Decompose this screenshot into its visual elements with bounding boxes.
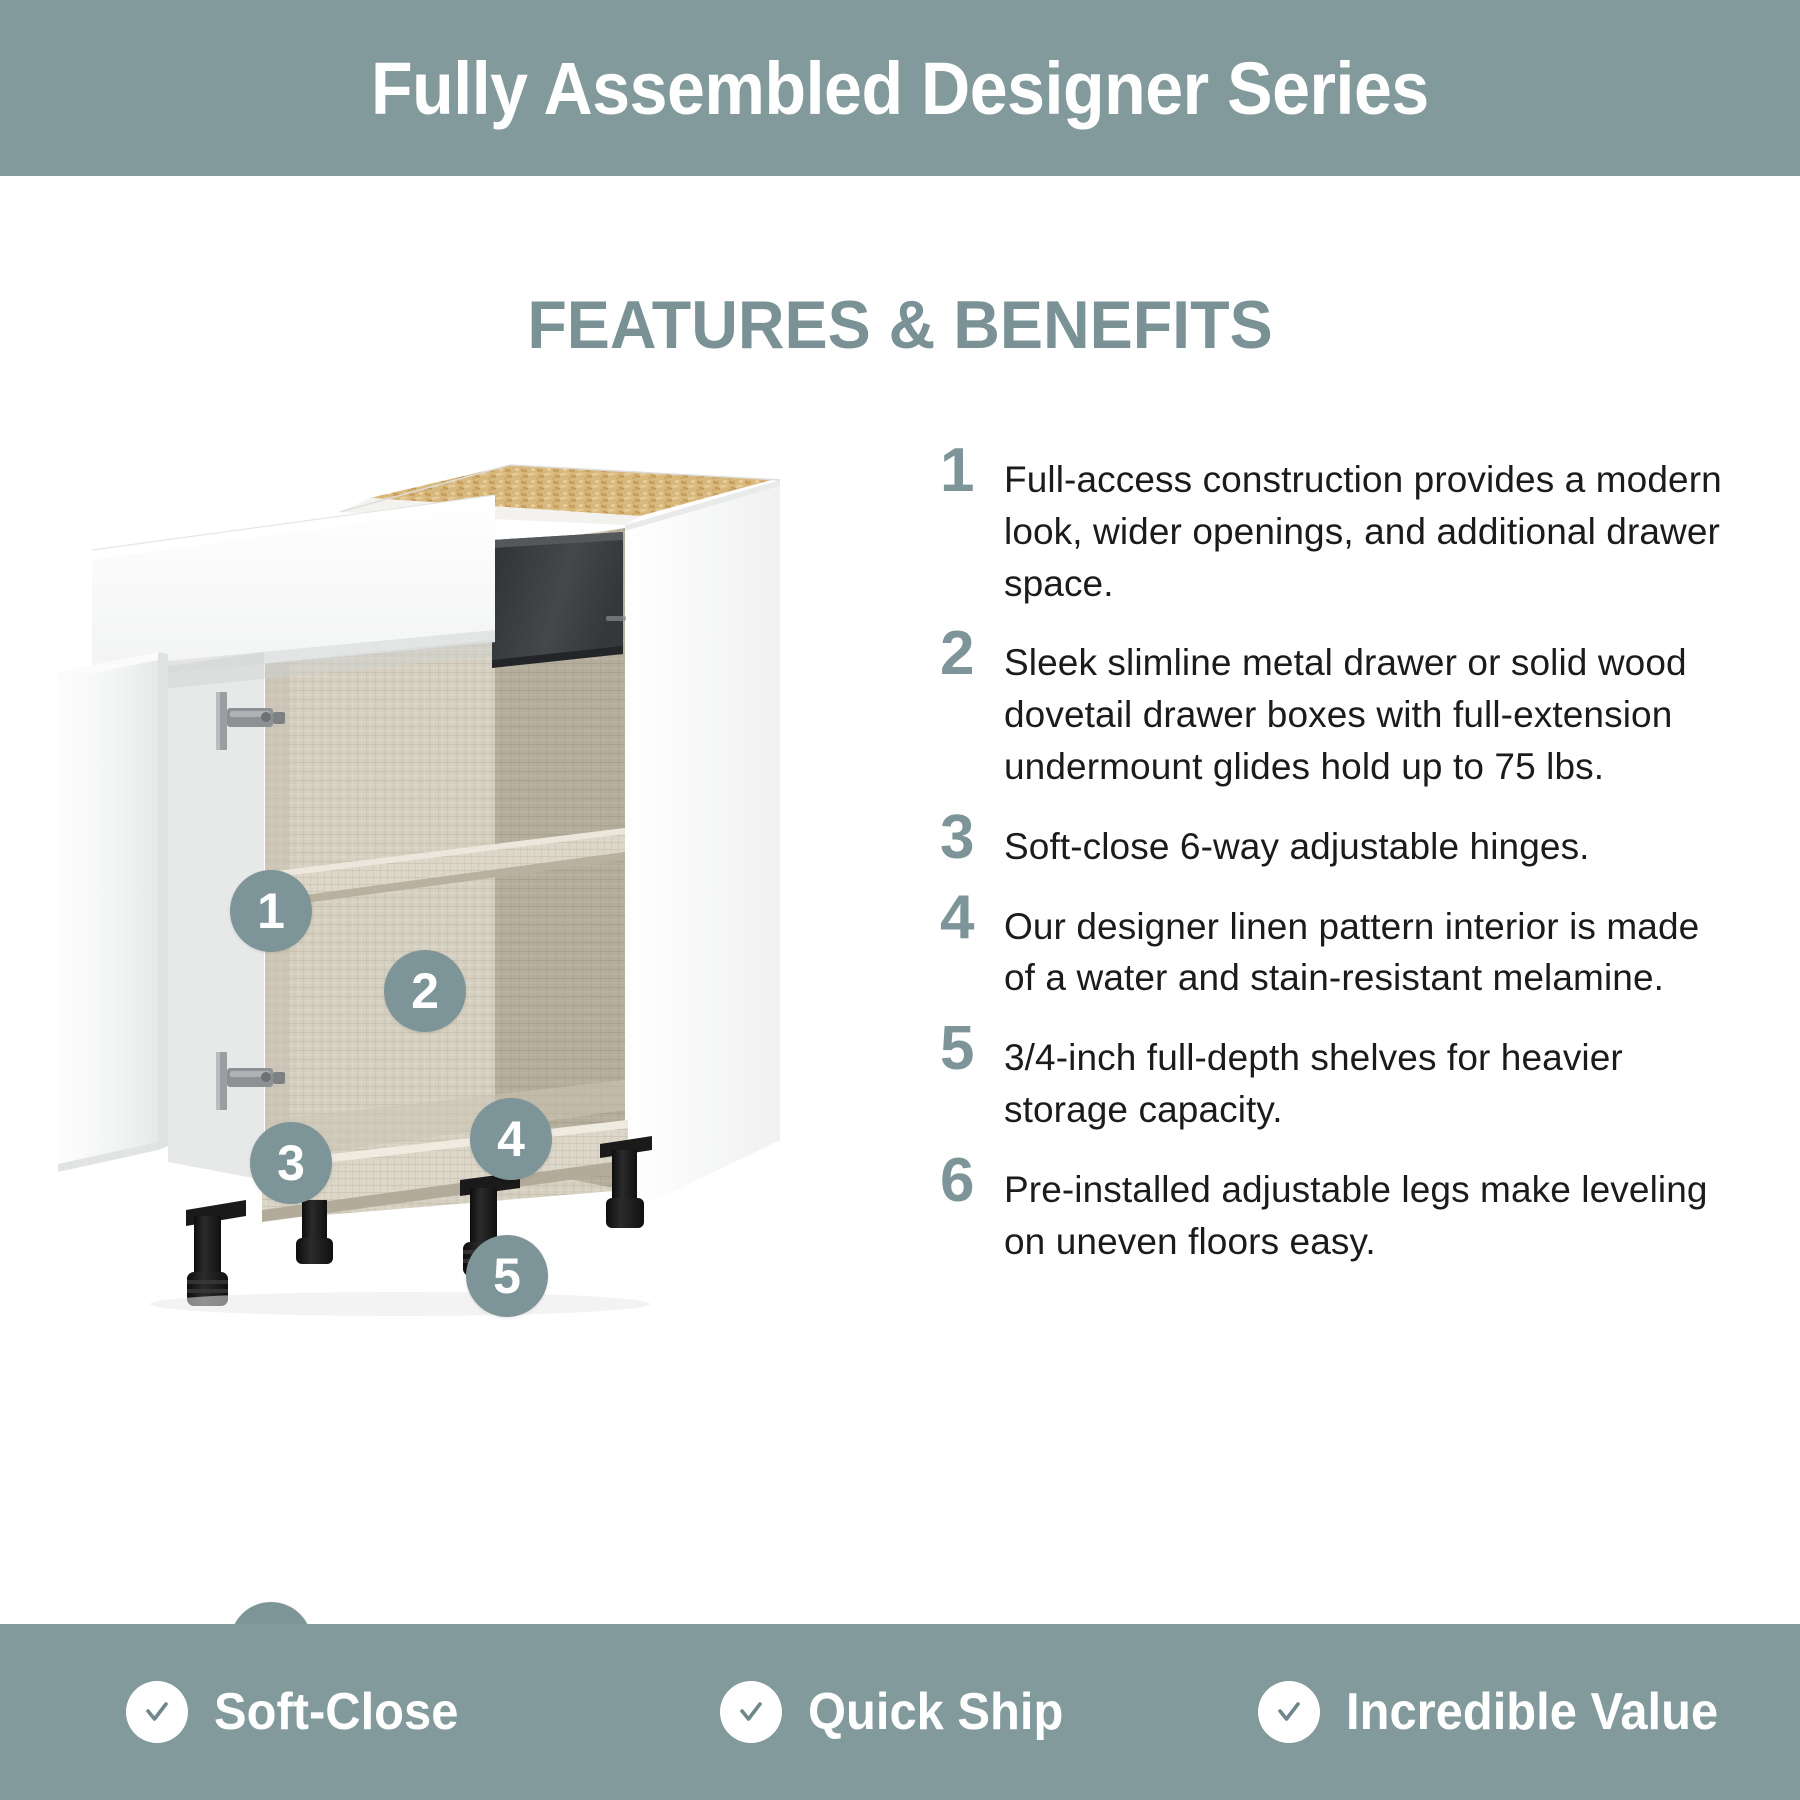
feature-item-4: 4 Our designer linen pattern interior is… <box>940 887 1740 1005</box>
feature-text-4: Our designer linen pattern interior is m… <box>1004 887 1740 1005</box>
feature-text-2: Sleek slimline metal drawer or solid woo… <box>1004 623 1740 792</box>
callout-badge-1: 1 <box>230 870 312 952</box>
footer-label-soft-close: Soft-Close <box>214 1682 458 1742</box>
footer-label-incredible-value: Incredible Value <box>1346 1682 1718 1742</box>
feature-item-3: 3 Soft-close 6-way adjustable hinges. <box>940 807 1740 873</box>
feature-number-6: 6 <box>940 1150 1004 1211</box>
adjustable-leg-front-left <box>186 1200 246 1306</box>
main-content: 1 2 3 4 5 6 1 Full-access construction p… <box>0 400 1800 1600</box>
feature-item-5: 5 3/4-inch full-depth shelves for heavie… <box>940 1018 1740 1136</box>
footer-item-incredible-value: Incredible Value <box>1200 1681 1800 1743</box>
callout-badge-4: 4 <box>470 1098 552 1180</box>
cabinet-diagram-svg <box>40 420 900 1320</box>
feature-text-1: Full-access construction provides a mode… <box>1004 440 1740 609</box>
callout-badge-3: 3 <box>250 1122 332 1204</box>
footer-item-quick-ship: Quick Ship <box>600 1681 1200 1743</box>
cabinet-illustration: 1 2 3 4 5 6 <box>40 420 900 1320</box>
cabinet-door-open <box>58 652 168 1172</box>
callout-badge-5: 5 <box>466 1235 548 1317</box>
cabinet-right-side-panel <box>625 480 780 1215</box>
check-icon <box>1258 1681 1320 1743</box>
feature-number-1: 1 <box>940 440 1004 501</box>
page-header-title: Fully Assembled Designer Series <box>371 46 1429 131</box>
footer-item-soft-close: Soft-Close <box>0 1681 600 1743</box>
feature-number-3: 3 <box>940 807 1004 868</box>
page-header: Fully Assembled Designer Series <box>0 0 1800 176</box>
feature-text-6: Pre-installed adjustable legs make level… <box>1004 1150 1740 1268</box>
feature-text-3: Soft-close 6-way adjustable hinges. <box>1004 807 1740 873</box>
feature-text-5: 3/4-inch full-depth shelves for heavier … <box>1004 1018 1740 1136</box>
section-title: FEATURES & BENEFITS <box>45 286 1755 364</box>
check-icon <box>720 1681 782 1743</box>
feature-item-6: 6 Pre-installed adjustable legs make lev… <box>940 1150 1740 1268</box>
check-icon <box>126 1681 188 1743</box>
features-list: 1 Full-access construction provides a mo… <box>940 440 1740 1281</box>
feature-item-2: 2 Sleek slimline metal drawer or solid w… <box>940 623 1740 792</box>
page-footer: Soft-Close Quick Ship Incredible Value <box>0 1624 1800 1800</box>
feature-item-1: 1 Full-access construction provides a mo… <box>940 440 1740 609</box>
feature-number-5: 5 <box>940 1018 1004 1079</box>
callout-badge-2: 2 <box>384 950 466 1032</box>
footer-label-quick-ship: Quick Ship <box>808 1682 1063 1742</box>
feature-number-4: 4 <box>940 887 1004 948</box>
slimline-metal-drawer-box <box>492 532 626 668</box>
feature-number-2: 2 <box>940 623 1004 684</box>
